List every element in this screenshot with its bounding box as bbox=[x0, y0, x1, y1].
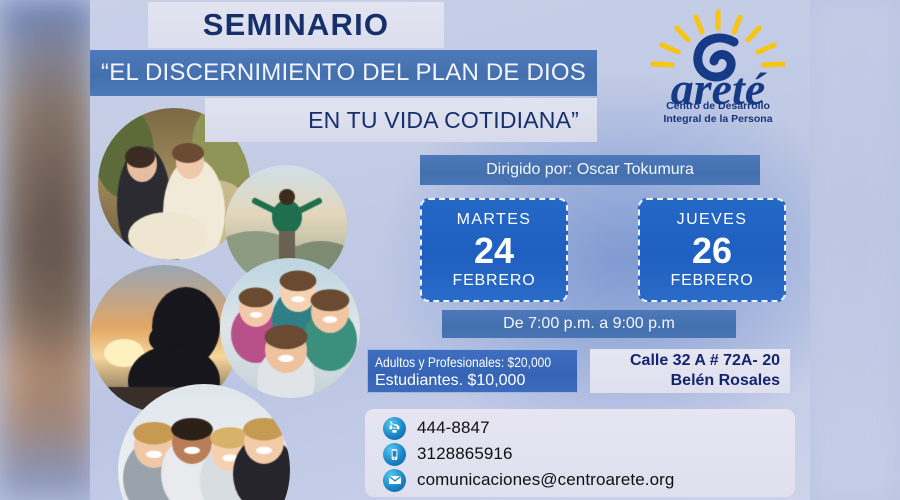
address-line-2: Belén Rosales bbox=[671, 371, 780, 391]
seminar-flyer: SEMINARIO “EL DISCERNIMIENTO DEL PLAN DE… bbox=[0, 0, 900, 500]
date-month: FEBRERO bbox=[671, 273, 754, 289]
email-address: comunicaciones@centroarete.org bbox=[417, 470, 674, 490]
mobile-phone-icon bbox=[383, 443, 406, 466]
logo-tagline-line-2: Integral de la Persona bbox=[630, 113, 806, 126]
address-line-1: Calle 32 A # 72A- 20 bbox=[630, 351, 780, 371]
logo-tagline: Centro de Desarrollo Integral de la Pers… bbox=[630, 100, 806, 126]
address-box: Calle 32 A # 72A- 20 Belén Rosales bbox=[590, 349, 790, 393]
contact-row-mobile: 3128865916 bbox=[383, 441, 795, 467]
phone-number: 444-8847 bbox=[417, 418, 490, 438]
family-group-photo bbox=[220, 258, 360, 398]
telephone-icon bbox=[383, 417, 406, 440]
title-line-1: “EL DISCERNIMIENTO DEL PLAN DE DIOS bbox=[90, 50, 597, 96]
date-weekday: MARTES bbox=[457, 212, 532, 228]
price-students: Estudiantes. $10,000 bbox=[375, 371, 571, 392]
price-adults: Adultos y Profesionales: $20,000 bbox=[375, 353, 544, 371]
logo-tagline-line-1: Centro de Desarrollo bbox=[630, 100, 806, 113]
flyer-canvas: SEMINARIO “EL DISCERNIMIENTO DEL PLAN DE… bbox=[90, 0, 810, 500]
price-box: Adultos y Profesionales: $20,000 Estudia… bbox=[367, 349, 578, 393]
kicker-text: SEMINARIO bbox=[148, 2, 444, 48]
date-day: 24 bbox=[474, 228, 514, 273]
date-month: FEBRERO bbox=[453, 273, 536, 289]
contact-card: 444-8847 3128865916 bbox=[365, 409, 795, 497]
blurred-right-strip bbox=[808, 0, 900, 500]
date-card-martes: MARTES 24 FEBRERO bbox=[420, 198, 568, 302]
title-line-2: EN TU VIDA COTIDIANA” bbox=[205, 98, 597, 142]
envelope-icon bbox=[383, 469, 406, 492]
time-bar: De 7:00 p.m. a 9:00 p.m bbox=[442, 310, 736, 338]
date-day: 26 bbox=[692, 228, 732, 273]
date-card-jueves: JUEVES 26 FEBRERO bbox=[638, 198, 786, 302]
speaker-bar: Dirigido por: Oscar Tokumura bbox=[420, 155, 760, 185]
contact-row-email: comunicaciones@centroarete.org bbox=[383, 467, 795, 493]
contact-row-phone: 444-8847 bbox=[383, 415, 795, 441]
blurred-left-strip bbox=[0, 0, 94, 500]
mobile-number: 3128865916 bbox=[417, 444, 513, 464]
date-weekday: JUEVES bbox=[677, 212, 748, 228]
